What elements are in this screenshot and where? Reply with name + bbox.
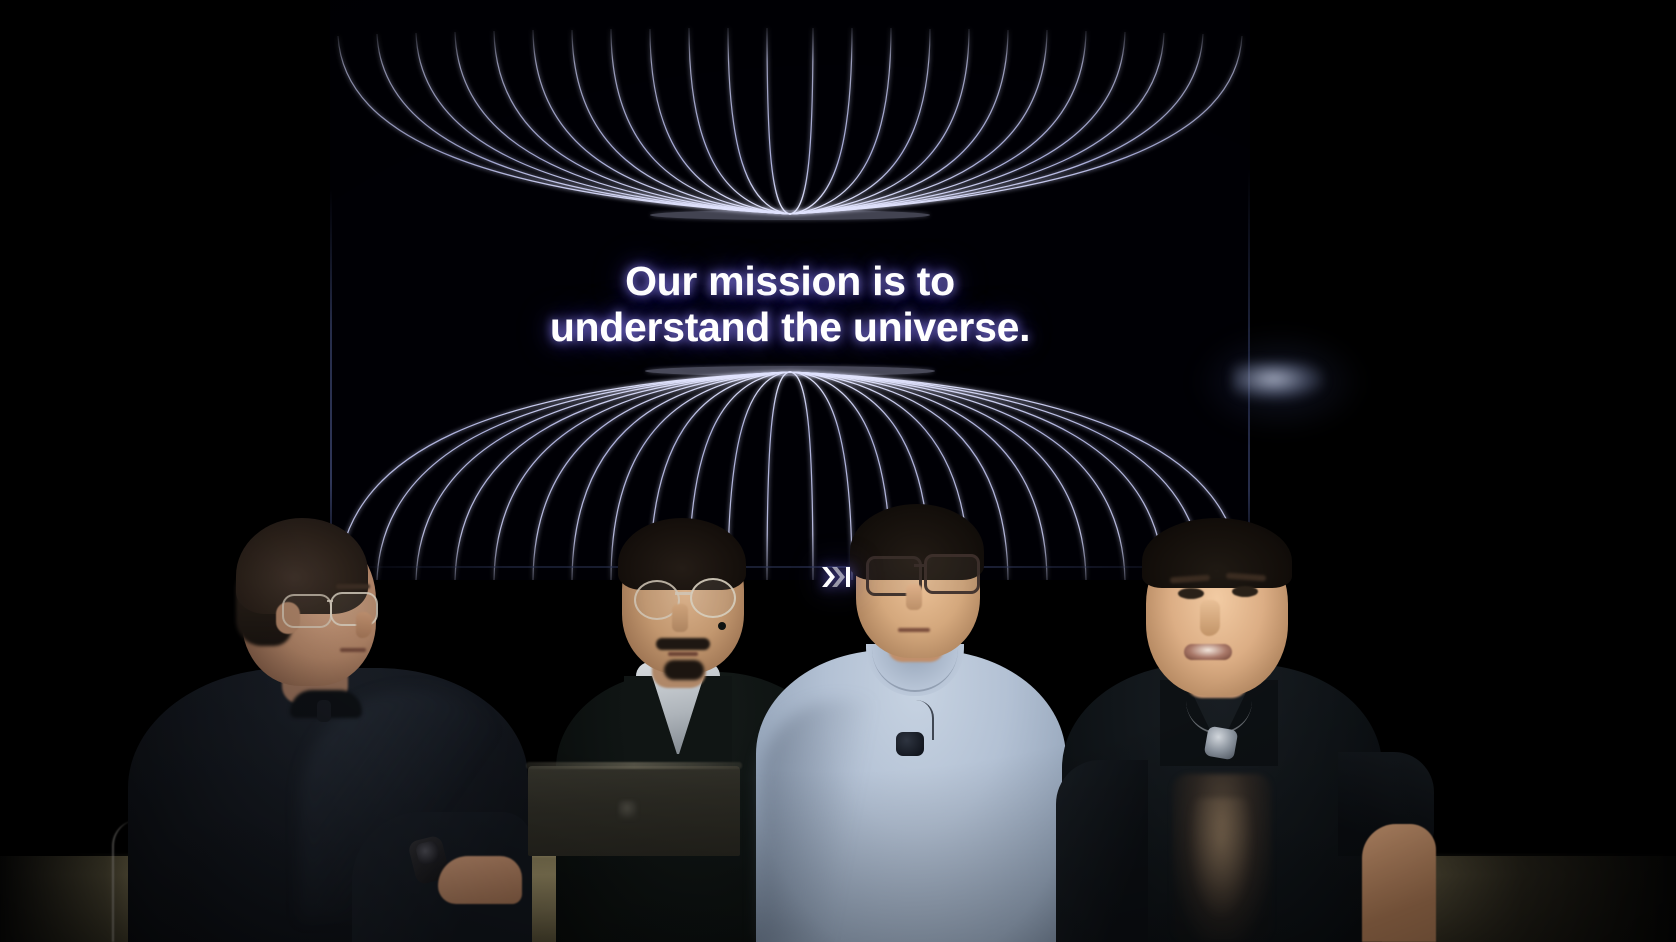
panelist-2-mouth — [668, 652, 698, 656]
panelist-4-eye-right — [1232, 586, 1258, 597]
presentation-display — [330, 0, 1250, 580]
panelist-3-lavalier-microphone — [896, 732, 924, 756]
xai-logo-glyph — [819, 564, 855, 590]
panelist-4-necklace-pendant — [1204, 726, 1239, 761]
panelist-3-mouth — [898, 628, 930, 632]
laptop-lid-edge — [526, 762, 742, 769]
panelist-4-eye-left — [1178, 588, 1204, 599]
laptop-lid-logo — [618, 800, 638, 820]
display-left-edge — [330, 190, 332, 580]
panelist-4-nose — [1200, 600, 1220, 636]
display-bottom-edge — [330, 566, 1250, 568]
panelist-1-mouth — [340, 648, 366, 652]
panelist-3-glasses-bridge — [914, 564, 926, 567]
panelist-1-glasses-bridge — [327, 600, 333, 602]
panelist-2-glasses-right-lens — [690, 578, 736, 618]
panelist-3-torso-shadow — [760, 700, 880, 942]
panelist-1-hand — [438, 856, 522, 904]
panelist-4-right-arm — [1362, 824, 1436, 942]
panelist-4-left-sleeve — [1056, 760, 1148, 942]
panelist-2-glasses-bridge — [675, 592, 691, 595]
panelist-1-nose — [356, 612, 372, 638]
panelist-1-glasses-left-lens — [282, 594, 332, 628]
panelist-2-goatee — [664, 660, 704, 680]
panelist-2-nose — [672, 604, 688, 632]
video-frame: Our mission is to understand the univers… — [0, 0, 1676, 942]
panelist-3-nose — [906, 584, 922, 610]
arc-field-bottom — [330, 0, 1250, 580]
panelist-3-glasses-right-lens — [924, 554, 980, 594]
panelist-4-mouth-speaking — [1184, 644, 1232, 660]
panelist-2-microphone — [718, 622, 726, 630]
panelist-1-eyebrow — [336, 584, 370, 589]
panelist-1-microphone — [317, 700, 331, 722]
xai-logo — [818, 562, 856, 592]
panelist-2-mustache — [656, 638, 710, 650]
panel-glare-reflection — [1232, 362, 1324, 400]
panelist-4-shirt-graphic-highlight — [1188, 798, 1254, 918]
